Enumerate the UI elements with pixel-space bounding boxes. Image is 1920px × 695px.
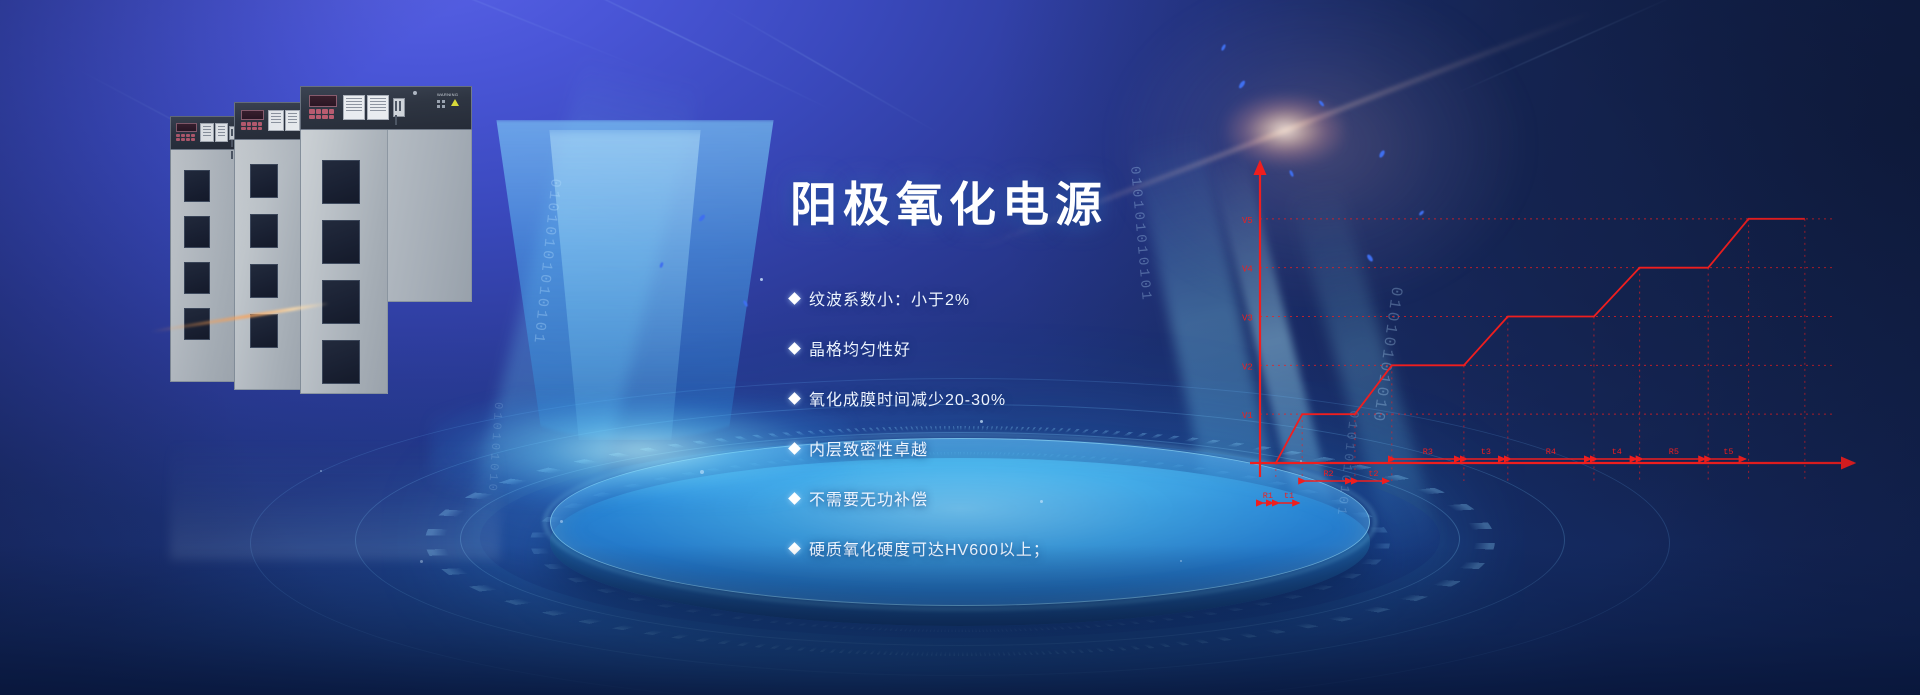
bottom-fade-overlay <box>0 545 1920 695</box>
banner-stage: WARNING 01010101010101 010101010101 0101… <box>0 0 1920 695</box>
